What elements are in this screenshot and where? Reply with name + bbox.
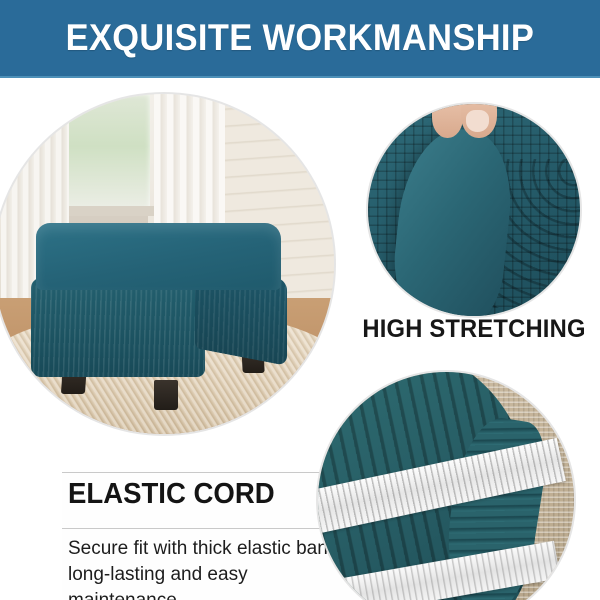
divider-bottom [62, 528, 362, 529]
elastic-cord-panel: ELASTIC CORD Secure fit with thick elast… [62, 470, 362, 600]
ottoman-body [31, 223, 286, 383]
high-stretching-photo [368, 104, 580, 316]
ottoman-front-panel [31, 278, 204, 377]
ottoman-photo [0, 94, 334, 434]
divider-top [62, 472, 362, 473]
window-sill [55, 206, 157, 216]
ottoman-scene [0, 94, 334, 434]
product-feature-graphic: EXQUISITE WORKMANSHIP [0, 0, 600, 600]
ottoman-leg [154, 380, 178, 411]
fingernail [466, 110, 489, 131]
stretch-scene [368, 104, 580, 316]
window [62, 94, 150, 210]
elastic-band-scene [318, 372, 574, 600]
header-banner: EXQUISITE WORKMANSHIP [0, 0, 600, 78]
ottoman-top-surface [36, 223, 281, 290]
banner-title: EXQUISITE WORKMANSHIP [66, 17, 535, 59]
elastic-cord-description: Secure fit with thick elastic bands, lon… [68, 536, 360, 600]
elastic-cord-photo [318, 372, 574, 600]
high-stretching-caption: HIGH STRETCHING [373, 312, 574, 346]
elastic-cord-title: ELASTIC CORD [68, 478, 275, 511]
